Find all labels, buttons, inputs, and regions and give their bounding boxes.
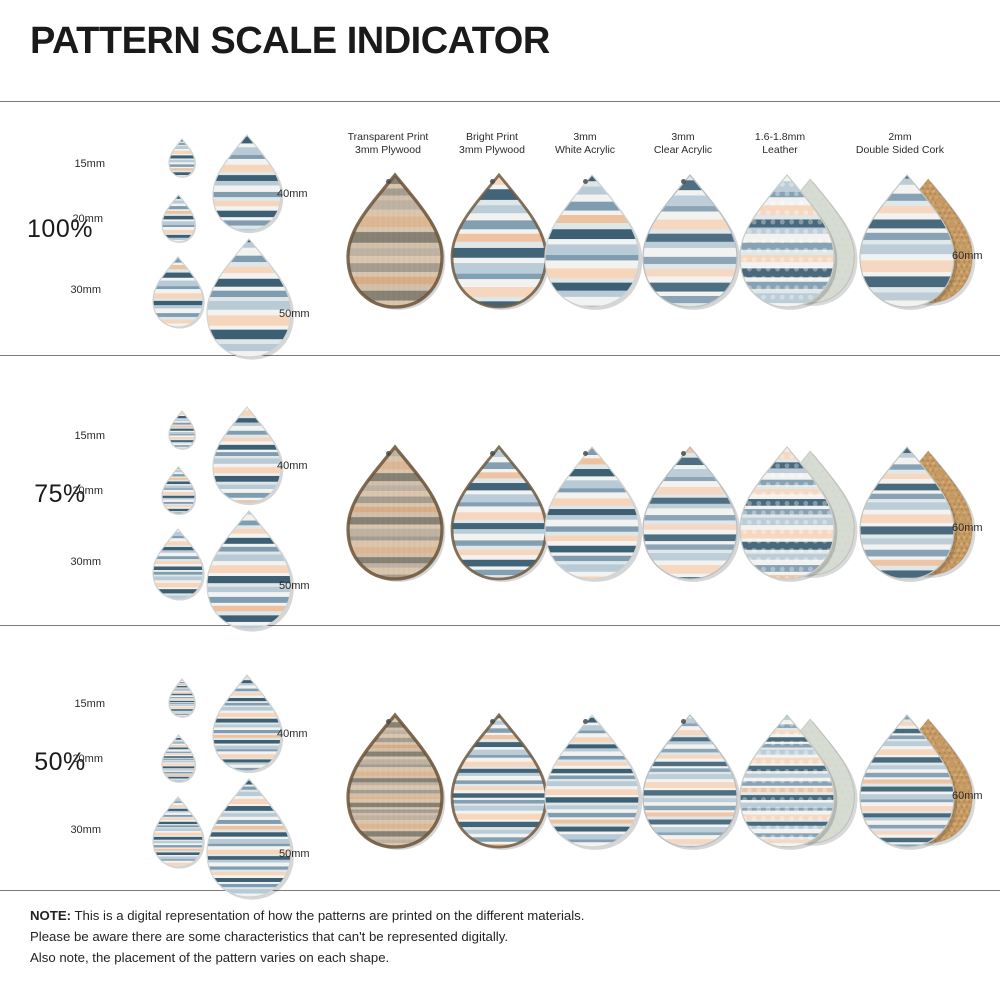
- material-sample-row-75-white-acrylic: [538, 440, 648, 588]
- size-label-20mm: 20mm: [0, 213, 103, 225]
- material-sample-row-50-clear-acrylic: [636, 708, 746, 856]
- divider-top: [0, 101, 1000, 102]
- note-line-2: Please be aware there are some character…: [30, 926, 790, 947]
- size-sample-row-100-50mm: [200, 232, 298, 364]
- cork-front-drop: [853, 440, 961, 586]
- column-header-double-sided-cork: 2mm Double Sided Cork: [830, 131, 970, 157]
- sample-size-label-row-100: 60mm: [952, 250, 983, 262]
- note-line-1: NOTE: This is a digital representation o…: [30, 905, 790, 926]
- size-sample-row-75-20mm: [155, 460, 202, 521]
- size-sample-row-100-40mm: [206, 128, 288, 238]
- leather-front-drop: [733, 708, 841, 854]
- size-label-30mm: 30mm: [0, 556, 101, 568]
- material-sample-row-75-double-sided-cork: [853, 440, 987, 592]
- column-header-line2: Leather: [710, 144, 850, 157]
- material-sample-row-100-double-sided-cork: [853, 168, 987, 320]
- material-sample-row-50-white-acrylic: [538, 708, 648, 856]
- size-sample-row-50-50mm: [200, 772, 298, 904]
- hanging-hole: [386, 719, 391, 724]
- hanging-hole: [583, 179, 588, 184]
- size-sample-row-50-15mm: [162, 672, 202, 724]
- size-label-40mm: 40mm: [277, 728, 308, 740]
- note-line-3: Also note, the placement of the pattern …: [30, 947, 790, 968]
- divider-row-75-50: [0, 625, 1000, 626]
- page-title: PATTERN SCALE INDICATOR: [30, 22, 550, 60]
- size-sample-row-100-20mm: [155, 188, 202, 249]
- material-sample-row-50-double-sided-cork: [853, 708, 987, 860]
- material-sample-row-50-leather: [733, 708, 867, 860]
- size-sample-row-75-40mm: [206, 400, 288, 510]
- material-sample-row-100-transparent-print-plywood: [341, 168, 451, 316]
- sample-size-label-row-75: 60mm: [952, 522, 983, 534]
- size-label-50mm: 50mm: [279, 848, 310, 860]
- note-block: NOTE: This is a digital representation o…: [30, 905, 790, 968]
- hanging-hole: [583, 451, 588, 456]
- size-label-50mm: 50mm: [279, 308, 310, 320]
- note-text-1: This is a digital representation of how …: [71, 908, 584, 923]
- size-label-30mm: 30mm: [0, 284, 101, 296]
- material-sample-row-100-leather: [733, 168, 867, 320]
- hanging-hole: [386, 179, 391, 184]
- material-sample-row-100-white-acrylic: [538, 168, 648, 316]
- size-sample-row-50-40mm: [206, 668, 288, 778]
- size-sample-row-75-50mm: [200, 504, 298, 636]
- size-label-30mm: 30mm: [0, 824, 101, 836]
- size-label-15mm: 15mm: [0, 158, 105, 170]
- size-label-20mm: 20mm: [0, 753, 103, 765]
- pattern-scale-indicator-page: PATTERN SCALE INDICATOR Transparent Prin…: [0, 0, 1000, 1000]
- divider-bottom: [0, 890, 1000, 891]
- size-sample-row-100-15mm: [162, 132, 202, 184]
- size-label-15mm: 15mm: [0, 430, 105, 442]
- column-header-line1: 1.6-1.8mm: [710, 131, 850, 144]
- divider-row-100-75: [0, 355, 1000, 356]
- size-sample-row-75-15mm: [162, 404, 202, 456]
- hanging-hole: [490, 719, 495, 724]
- size-label-15mm: 15mm: [0, 698, 105, 710]
- leather-front-drop: [733, 440, 841, 586]
- size-label-40mm: 40mm: [277, 460, 308, 472]
- material-sample-row-100-clear-acrylic: [636, 168, 746, 316]
- size-label-40mm: 40mm: [277, 188, 308, 200]
- hanging-hole: [681, 451, 686, 456]
- hanging-hole: [386, 451, 391, 456]
- column-header-line2: Double Sided Cork: [830, 144, 970, 157]
- column-header-line1: 2mm: [830, 131, 970, 144]
- leather-front-drop: [733, 168, 841, 314]
- note-label: NOTE:: [30, 908, 71, 923]
- hanging-hole: [681, 179, 686, 184]
- size-sample-row-50-20mm: [155, 728, 202, 789]
- hanging-hole: [490, 451, 495, 456]
- material-sample-row-75-leather: [733, 440, 867, 592]
- cork-front-drop: [853, 168, 961, 314]
- size-label-50mm: 50mm: [279, 580, 310, 592]
- material-sample-row-75-transparent-print-plywood: [341, 440, 451, 588]
- hanging-hole: [681, 719, 686, 724]
- sample-size-label-row-50: 60mm: [952, 790, 983, 802]
- column-header-leather: 1.6-1.8mm Leather: [710, 131, 850, 157]
- cork-front-drop: [853, 708, 961, 854]
- hanging-hole: [490, 179, 495, 184]
- material-sample-row-50-transparent-print-plywood: [341, 708, 451, 856]
- hanging-hole: [583, 719, 588, 724]
- size-label-20mm: 20mm: [0, 485, 103, 497]
- material-sample-row-75-clear-acrylic: [636, 440, 746, 588]
